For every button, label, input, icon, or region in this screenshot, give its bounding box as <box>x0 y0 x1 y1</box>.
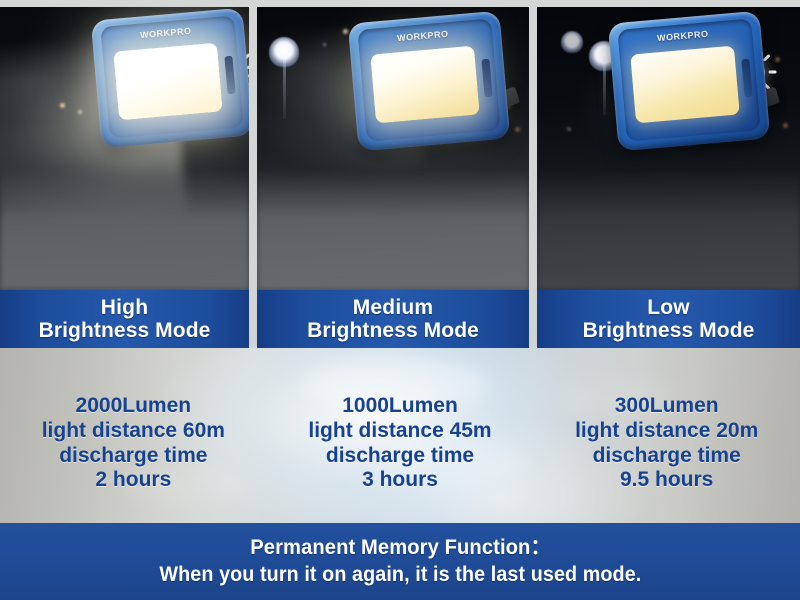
panel-low[interactable]: WORKPRO Low Brightness Mode <box>537 7 800 348</box>
ground-reflection <box>0 170 249 290</box>
night-scene-high: WORKPRO <box>0 7 249 290</box>
mode-photo-panels: WORKPRO High Brightness Mode <box>0 0 800 348</box>
work-light-high: WORKPRO <box>96 14 248 142</box>
spec-lumen-low: 300Lumen <box>615 394 719 419</box>
work-light-medium: WORKPRO <box>353 17 505 145</box>
street-lamp-glow <box>561 31 583 53</box>
mode-banner-high: High Brightness Mode <box>0 290 249 348</box>
panel-high[interactable]: WORKPRO High Brightness Mode <box>0 7 249 348</box>
mode-title-high: High <box>101 297 148 318</box>
memory-function-title: Permanent Memory Function： <box>250 536 550 560</box>
spec-distance-medium: light distance 45m <box>308 419 491 444</box>
mode-subtitle-high: Brightness Mode <box>39 320 211 341</box>
spec-distance-high: light distance 60m <box>42 419 225 444</box>
mode-title-medium: Medium <box>353 297 434 318</box>
spec-lumen-high: 2000Lumen <box>76 394 192 419</box>
spec-lumen-medium: 1000Lumen <box>342 394 458 419</box>
street-lamp-glow <box>269 37 299 67</box>
spec-discharge-label-medium: discharge time <box>326 444 474 469</box>
mode-subtitle-medium: Brightness Mode <box>307 320 479 341</box>
spec-discharge-value-high: 2 hours <box>95 468 171 493</box>
night-scene-medium: WORKPRO <box>257 7 529 290</box>
spec-column-low: 300Lumen light distance 20m discharge ti… <box>533 348 800 523</box>
spec-discharge-value-low: 9.5 hours <box>620 468 713 493</box>
mode-title-low: Low <box>647 297 690 318</box>
mode-subtitle-low: Brightness Mode <box>583 320 755 341</box>
work-light-low: WORKPRO <box>613 17 765 145</box>
marketing-graphic: WORKPRO High Brightness Mode <box>0 0 800 600</box>
spec-discharge-label-high: discharge time <box>59 444 207 469</box>
spec-distance-low: light distance 20m <box>575 419 758 444</box>
specification-row: 2000Lumen light distance 60m discharge t… <box>0 348 800 523</box>
panel-medium[interactable]: WORKPRO Medium Brightness Mode <box>257 7 529 348</box>
memory-function-banner: Permanent Memory Function： When you turn… <box>0 523 800 600</box>
ground-reflection <box>537 170 800 290</box>
mode-banner-medium: Medium Brightness Mode <box>257 290 529 348</box>
spec-discharge-label-low: discharge time <box>593 444 741 469</box>
spec-discharge-value-medium: 3 hours <box>362 468 438 493</box>
spec-column-high: 2000Lumen light distance 60m discharge t… <box>0 348 267 523</box>
night-scene-low: WORKPRO <box>537 7 800 290</box>
ground-reflection <box>257 170 529 290</box>
memory-function-description: When you turn it on again, it is the las… <box>159 563 641 587</box>
mode-banner-low: Low Brightness Mode <box>537 290 800 348</box>
spec-column-medium: 1000Lumen light distance 45m discharge t… <box>267 348 534 523</box>
